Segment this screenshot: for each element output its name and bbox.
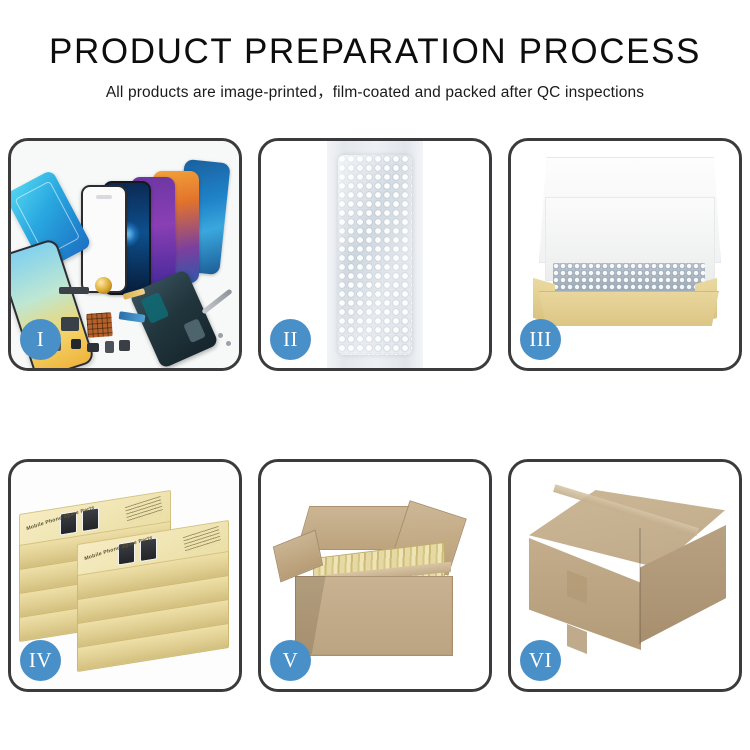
step-badge-4: IV [20,640,61,681]
small-chip-1 [71,339,81,349]
process-step-panel-3: III [508,138,742,371]
screw-part-1 [218,333,223,338]
step-badge-3: III [520,319,561,360]
step-badge-2: II [270,319,311,360]
page-subtitle: All products are image-printed，film-coat… [0,82,750,104]
step-badge-1: I [20,319,61,360]
carton-shading [295,576,451,654]
process-step-panel-2: II [258,138,492,371]
box-spec-text-lines [125,496,163,524]
small-chip-4 [119,340,130,351]
carton-vertical-edge [639,528,641,644]
box-front-panel [539,291,719,326]
box-spec-text-lines [183,526,221,554]
header: PRODUCT PREPARATION PROCESS All products… [0,0,750,104]
step-badge-6: VI [520,640,561,681]
process-step-panel-4: Mobile Phone Spare Parts Mobile Phone Sp… [8,459,242,692]
process-steps-grid: I II III [8,138,742,692]
process-step-panel-5: V [258,459,492,692]
camera-module-part [95,277,112,294]
small-chip-3 [105,341,114,353]
process-step-panel-1: I [8,138,242,371]
page-title: PRODUCT PREPARATION PROCESS [0,32,750,72]
step-badge-5: V [270,640,311,681]
screw-part-2 [226,341,231,346]
flex-cable-part-1 [59,287,89,294]
copper-grid-part [86,312,113,338]
connector-part [61,317,79,331]
small-chip-2 [87,343,99,352]
plastic-gloss-overlay [338,155,412,355]
process-step-panel-6: VI [508,459,742,692]
